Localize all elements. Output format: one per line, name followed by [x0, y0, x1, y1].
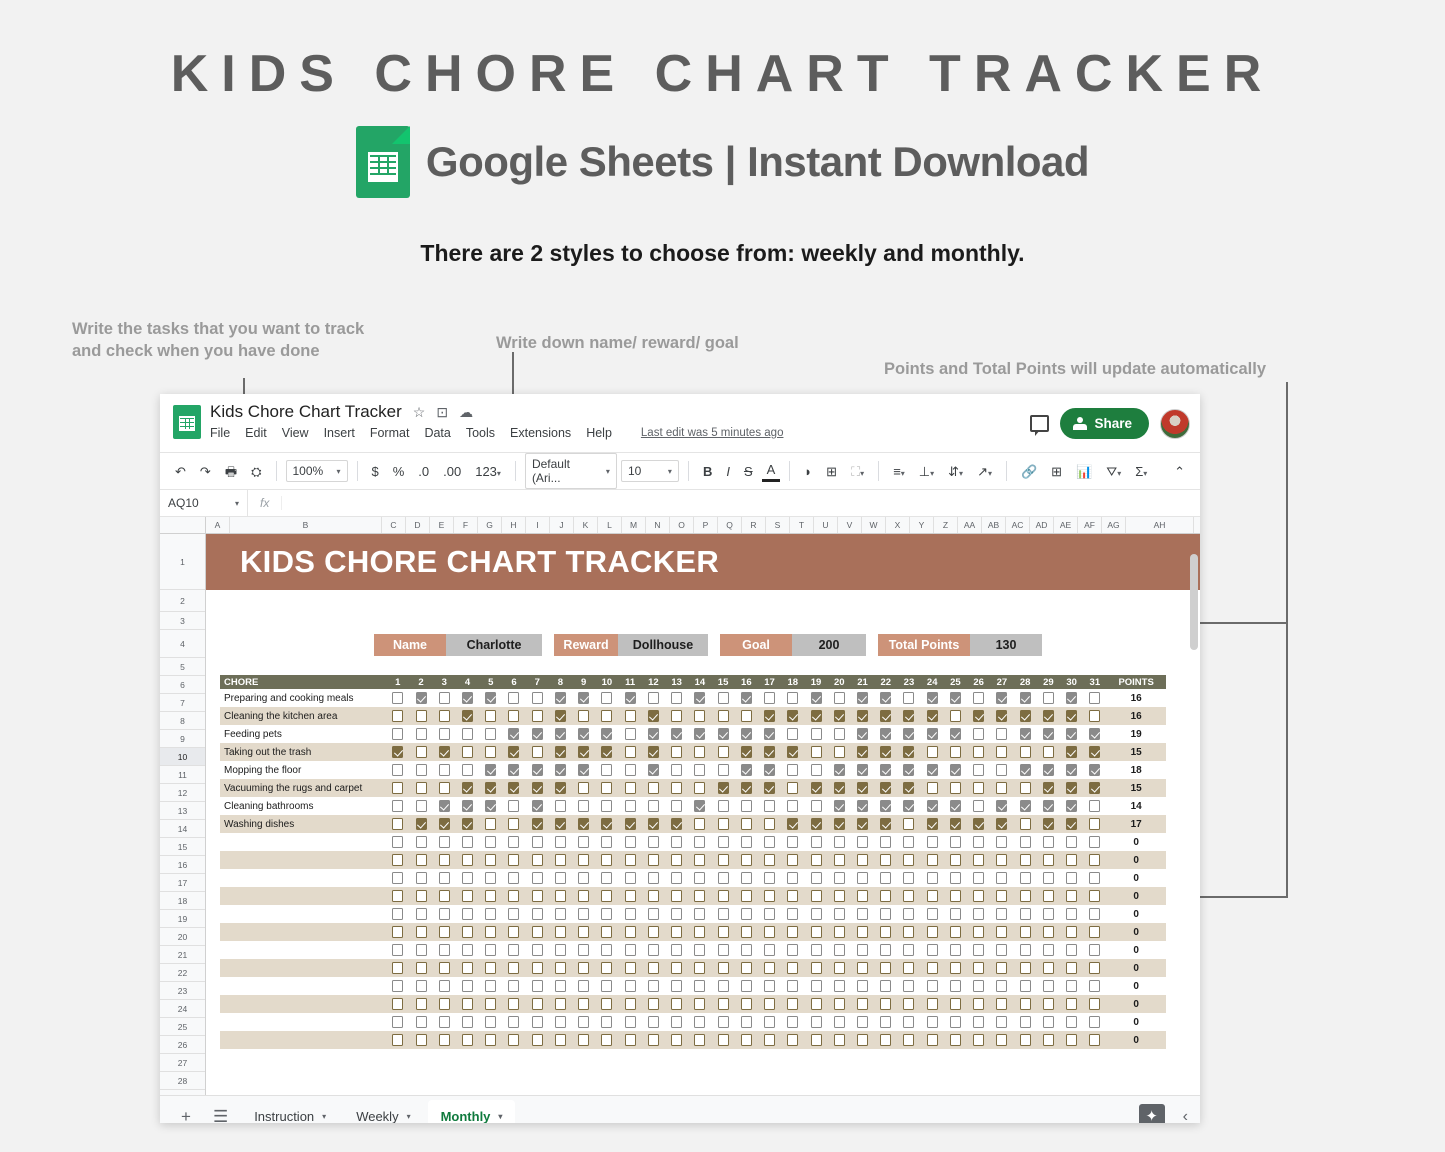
chore-checkbox[interactable]: [741, 1034, 752, 1046]
column-header-AC[interactable]: AC: [1006, 517, 1030, 533]
day-cell-22[interactable]: [874, 980, 897, 992]
day-cell-8[interactable]: [549, 944, 572, 956]
chore-checkbox[interactable]: [508, 1034, 519, 1046]
chore-checkbox[interactable]: [555, 944, 566, 956]
chore-checkbox[interactable]: [648, 710, 659, 722]
day-cell-14[interactable]: [688, 872, 711, 884]
chore-checkbox[interactable]: [508, 962, 519, 974]
day-cell-12[interactable]: [642, 692, 665, 704]
chore-checkbox[interactable]: [880, 854, 891, 866]
chore-checkbox[interactable]: [555, 998, 566, 1010]
chore-checkbox[interactable]: [718, 728, 729, 740]
chore-checkbox[interactable]: [508, 944, 519, 956]
day-cell-20[interactable]: [828, 764, 851, 776]
chore-checkbox[interactable]: [648, 962, 659, 974]
percent-format-button[interactable]: %: [388, 462, 410, 481]
day-cell-27[interactable]: [990, 890, 1013, 902]
day-cell-10[interactable]: [595, 1016, 618, 1028]
day-cell-14[interactable]: [688, 818, 711, 830]
chore-checkbox[interactable]: [787, 710, 798, 722]
chore-checkbox[interactable]: [485, 872, 496, 884]
add-sheet-icon[interactable]: +: [172, 1103, 200, 1124]
day-cell-26[interactable]: [967, 782, 990, 794]
day-cell-1[interactable]: [386, 890, 409, 902]
menu-extensions[interactable]: Extensions: [510, 426, 571, 440]
day-cell-2[interactable]: [409, 710, 432, 722]
day-cell-16[interactable]: [735, 980, 758, 992]
day-cell-28[interactable]: [1014, 962, 1037, 974]
chore-checkbox[interactable]: [764, 1016, 775, 1028]
day-cell-3[interactable]: [433, 872, 456, 884]
day-cell-9[interactable]: [572, 800, 595, 812]
chore-checkbox[interactable]: [927, 1016, 938, 1028]
avatar[interactable]: [1160, 409, 1190, 439]
chore-checkbox[interactable]: [741, 1016, 752, 1028]
chore-checkbox[interactable]: [927, 980, 938, 992]
chore-checkbox[interactable]: [648, 746, 659, 758]
chore-checkbox[interactable]: [880, 800, 891, 812]
day-cell-31[interactable]: [1083, 1016, 1106, 1028]
chore-checkbox[interactable]: [485, 782, 496, 794]
chore-checkbox[interactable]: [578, 980, 589, 992]
chevron-down-icon[interactable]: ▾: [322, 1112, 326, 1121]
chore-checkbox[interactable]: [485, 710, 496, 722]
day-cell-24[interactable]: [921, 926, 944, 938]
chore-checkbox[interactable]: [996, 710, 1007, 722]
chore-checkbox[interactable]: [741, 980, 752, 992]
day-cell-8[interactable]: [549, 962, 572, 974]
chore-checkbox[interactable]: [416, 980, 427, 992]
day-cell-8[interactable]: [549, 710, 572, 722]
day-cell-16[interactable]: [735, 854, 758, 866]
chore-checkbox[interactable]: [532, 1016, 543, 1028]
day-cell-22[interactable]: [874, 1016, 897, 1028]
day-cell-19[interactable]: [804, 854, 827, 866]
day-cell-4[interactable]: [456, 1034, 479, 1046]
chore-checkbox[interactable]: [973, 782, 984, 794]
day-cell-7[interactable]: [526, 908, 549, 920]
chore-checkbox[interactable]: [601, 926, 612, 938]
chore-checkbox[interactable]: [718, 710, 729, 722]
day-cell-29[interactable]: [1037, 872, 1060, 884]
day-cell-1[interactable]: [386, 998, 409, 1010]
day-cell-12[interactable]: [642, 746, 665, 758]
chore-checkbox[interactable]: [787, 1016, 798, 1028]
day-cell-6[interactable]: [502, 836, 525, 848]
chore-name-cell[interactable]: Cleaning the kitchen area: [220, 711, 386, 722]
chore-checkbox[interactable]: [903, 818, 914, 830]
day-cell-2[interactable]: [409, 692, 432, 704]
chore-checkbox[interactable]: [601, 692, 612, 704]
day-cell-27[interactable]: [990, 782, 1013, 794]
chore-checkbox[interactable]: [601, 746, 612, 758]
chore-checkbox[interactable]: [903, 962, 914, 974]
day-cell-25[interactable]: [944, 962, 967, 974]
day-cell-14[interactable]: [688, 998, 711, 1010]
day-cell-23[interactable]: [897, 746, 920, 758]
day-cell-23[interactable]: [897, 944, 920, 956]
chore-checkbox[interactable]: [857, 926, 868, 938]
day-cell-23[interactable]: [897, 926, 920, 938]
day-cell-4[interactable]: [456, 728, 479, 740]
day-cell-23[interactable]: [897, 1034, 920, 1046]
day-cell-7[interactable]: [526, 944, 549, 956]
chore-checkbox[interactable]: [416, 782, 427, 794]
day-cell-11[interactable]: [619, 980, 642, 992]
chore-checkbox[interactable]: [392, 872, 403, 884]
chore-checkbox[interactable]: [903, 710, 914, 722]
day-cell-18[interactable]: [781, 962, 804, 974]
chore-checkbox[interactable]: [416, 890, 427, 902]
chore-checkbox[interactable]: [578, 908, 589, 920]
day-cell-27[interactable]: [990, 908, 1013, 920]
day-cell-24[interactable]: [921, 692, 944, 704]
day-cell-19[interactable]: [804, 1034, 827, 1046]
day-cell-10[interactable]: [595, 854, 618, 866]
chore-checkbox[interactable]: [973, 890, 984, 902]
chore-checkbox[interactable]: [903, 980, 914, 992]
chore-checkbox[interactable]: [555, 926, 566, 938]
row-header-11[interactable]: 11: [160, 766, 205, 784]
chore-checkbox[interactable]: [903, 1034, 914, 1046]
day-cell-7[interactable]: [526, 818, 549, 830]
functions-icon[interactable]: Σ▾: [1130, 462, 1152, 481]
chore-checkbox[interactable]: [996, 836, 1007, 848]
chore-checkbox[interactable]: [392, 926, 403, 938]
chore-checkbox[interactable]: [694, 1034, 705, 1046]
day-cell-20[interactable]: [828, 692, 851, 704]
day-cell-27[interactable]: [990, 692, 1013, 704]
day-cell-21[interactable]: [851, 854, 874, 866]
chore-checkbox[interactable]: [787, 728, 798, 740]
day-cell-13[interactable]: [665, 764, 688, 776]
chore-checkbox[interactable]: [648, 872, 659, 884]
day-cell-9[interactable]: [572, 710, 595, 722]
day-cell-4[interactable]: [456, 746, 479, 758]
day-cell-20[interactable]: [828, 818, 851, 830]
day-cell-19[interactable]: [804, 782, 827, 794]
chore-checkbox[interactable]: [694, 890, 705, 902]
day-cell-24[interactable]: [921, 728, 944, 740]
chore-checkbox[interactable]: [578, 944, 589, 956]
chore-checkbox[interactable]: [787, 746, 798, 758]
select-all-corner[interactable]: [160, 517, 206, 533]
chore-checkbox[interactable]: [1043, 800, 1054, 812]
day-cell-6[interactable]: [502, 782, 525, 794]
chore-checkbox[interactable]: [392, 998, 403, 1010]
chore-checkbox[interactable]: [625, 800, 636, 812]
day-cell-1[interactable]: [386, 710, 409, 722]
day-cell-10[interactable]: [595, 1034, 618, 1046]
day-cell-15[interactable]: [711, 764, 734, 776]
chore-checkbox[interactable]: [718, 1016, 729, 1028]
chore-checkbox[interactable]: [973, 746, 984, 758]
day-cell-6[interactable]: [502, 800, 525, 812]
day-cell-24[interactable]: [921, 1016, 944, 1028]
day-cell-7[interactable]: [526, 746, 549, 758]
chore-checkbox[interactable]: [392, 710, 403, 722]
column-header-T[interactable]: T: [790, 517, 814, 533]
day-cell-5[interactable]: [479, 710, 502, 722]
chore-checkbox[interactable]: [880, 998, 891, 1010]
chore-checkbox[interactable]: [996, 980, 1007, 992]
chore-checkbox[interactable]: [741, 818, 752, 830]
chore-checkbox[interactable]: [996, 908, 1007, 920]
chore-checkbox[interactable]: [532, 962, 543, 974]
day-cell-26[interactable]: [967, 836, 990, 848]
chore-checkbox[interactable]: [625, 710, 636, 722]
day-cell-28[interactable]: [1014, 854, 1037, 866]
chore-checkbox[interactable]: [416, 746, 427, 758]
day-cell-23[interactable]: [897, 872, 920, 884]
chore-checkbox[interactable]: [508, 800, 519, 812]
chore-checkbox[interactable]: [532, 944, 543, 956]
chore-checkbox[interactable]: [1089, 908, 1100, 920]
chore-checkbox[interactable]: [1020, 890, 1031, 902]
chore-checkbox[interactable]: [694, 746, 705, 758]
day-cell-19[interactable]: [804, 980, 827, 992]
chore-checkbox[interactable]: [694, 764, 705, 776]
day-cell-10[interactable]: [595, 746, 618, 758]
chore-checkbox[interactable]: [508, 746, 519, 758]
day-cell-12[interactable]: [642, 872, 665, 884]
day-cell-9[interactable]: [572, 1016, 595, 1028]
day-cell-23[interactable]: [897, 890, 920, 902]
day-cell-17[interactable]: [758, 800, 781, 812]
day-cell-30[interactable]: [1060, 872, 1083, 884]
chore-checkbox[interactable]: [578, 836, 589, 848]
day-cell-5[interactable]: [479, 890, 502, 902]
chore-checkbox[interactable]: [927, 944, 938, 956]
day-cell-31[interactable]: [1083, 800, 1106, 812]
day-cell-11[interactable]: [619, 998, 642, 1010]
day-cell-23[interactable]: [897, 710, 920, 722]
day-cell-11[interactable]: [619, 746, 642, 758]
day-cell-14[interactable]: [688, 944, 711, 956]
day-cell-17[interactable]: [758, 818, 781, 830]
chore-checkbox[interactable]: [601, 962, 612, 974]
day-cell-25[interactable]: [944, 1016, 967, 1028]
chore-name-cell[interactable]: Mopping the floor: [220, 765, 386, 776]
chore-checkbox[interactable]: [671, 980, 682, 992]
chore-checkbox[interactable]: [578, 692, 589, 704]
chore-checkbox[interactable]: [625, 872, 636, 884]
day-cell-15[interactable]: [711, 728, 734, 740]
chore-checkbox[interactable]: [532, 746, 543, 758]
chore-checkbox[interactable]: [648, 944, 659, 956]
day-cell-26[interactable]: [967, 1016, 990, 1028]
day-cell-2[interactable]: [409, 800, 432, 812]
day-cell-1[interactable]: [386, 746, 409, 758]
chore-checkbox[interactable]: [718, 836, 729, 848]
chore-checkbox[interactable]: [741, 962, 752, 974]
day-cell-8[interactable]: [549, 818, 572, 830]
chore-checkbox[interactable]: [811, 944, 822, 956]
day-cell-23[interactable]: [897, 818, 920, 830]
day-cell-22[interactable]: [874, 728, 897, 740]
chore-checkbox[interactable]: [834, 746, 845, 758]
day-cell-26[interactable]: [967, 998, 990, 1010]
meta-value-3[interactable]: 130: [970, 634, 1042, 656]
day-cell-4[interactable]: [456, 800, 479, 812]
row-header-20[interactable]: 20: [160, 928, 205, 946]
day-cell-29[interactable]: [1037, 836, 1060, 848]
row-header-23[interactable]: 23: [160, 982, 205, 1000]
day-cell-1[interactable]: [386, 962, 409, 974]
day-cell-21[interactable]: [851, 980, 874, 992]
chore-checkbox[interactable]: [648, 800, 659, 812]
chore-checkbox[interactable]: [601, 908, 612, 920]
day-cell-16[interactable]: [735, 836, 758, 848]
column-header-I[interactable]: I: [526, 517, 550, 533]
day-cell-26[interactable]: [967, 980, 990, 992]
day-cell-28[interactable]: [1014, 890, 1037, 902]
chore-checkbox[interactable]: [462, 926, 473, 938]
day-cell-21[interactable]: [851, 746, 874, 758]
chore-checkbox[interactable]: [880, 1034, 891, 1046]
row-header-26[interactable]: 26: [160, 1036, 205, 1054]
day-cell-19[interactable]: [804, 926, 827, 938]
chore-checkbox[interactable]: [718, 944, 729, 956]
chore-checkbox[interactable]: [764, 980, 775, 992]
day-cell-5[interactable]: [479, 980, 502, 992]
chore-checkbox[interactable]: [532, 854, 543, 866]
column-header-U[interactable]: U: [814, 517, 838, 533]
chore-checkbox[interactable]: [648, 998, 659, 1010]
day-cell-6[interactable]: [502, 926, 525, 938]
day-cell-5[interactable]: [479, 782, 502, 794]
chore-checkbox[interactable]: [648, 1034, 659, 1046]
day-cell-18[interactable]: [781, 998, 804, 1010]
day-cell-2[interactable]: [409, 1034, 432, 1046]
day-cell-5[interactable]: [479, 836, 502, 848]
column-header-AE[interactable]: AE: [1054, 517, 1078, 533]
undo-icon[interactable]: ↶: [170, 462, 191, 481]
chore-checkbox[interactable]: [741, 782, 752, 794]
day-cell-1[interactable]: [386, 818, 409, 830]
day-cell-25[interactable]: [944, 926, 967, 938]
day-cell-20[interactable]: [828, 800, 851, 812]
day-cell-25[interactable]: [944, 908, 967, 920]
chore-checkbox[interactable]: [1020, 998, 1031, 1010]
day-cell-4[interactable]: [456, 962, 479, 974]
chore-checkbox[interactable]: [880, 836, 891, 848]
chore-checkbox[interactable]: [532, 800, 543, 812]
chore-checkbox[interactable]: [648, 728, 659, 740]
chore-checkbox[interactable]: [625, 854, 636, 866]
chore-checkbox[interactable]: [1066, 908, 1077, 920]
column-header-H[interactable]: H: [502, 517, 526, 533]
day-cell-5[interactable]: [479, 692, 502, 704]
chore-checkbox[interactable]: [718, 746, 729, 758]
day-cell-14[interactable]: [688, 782, 711, 794]
chore-checkbox[interactable]: [532, 836, 543, 848]
day-cell-22[interactable]: [874, 890, 897, 902]
day-cell-16[interactable]: [735, 800, 758, 812]
chore-checkbox[interactable]: [741, 746, 752, 758]
chore-checkbox[interactable]: [625, 764, 636, 776]
day-cell-26[interactable]: [967, 800, 990, 812]
day-cell-1[interactable]: [386, 1034, 409, 1046]
day-cell-31[interactable]: [1083, 728, 1106, 740]
chore-checkbox[interactable]: [927, 692, 938, 704]
chore-checkbox[interactable]: [1066, 818, 1077, 830]
day-cell-7[interactable]: [526, 782, 549, 794]
day-cell-12[interactable]: [642, 728, 665, 740]
day-cell-10[interactable]: [595, 890, 618, 902]
row-header-18[interactable]: 18: [160, 892, 205, 910]
chore-checkbox[interactable]: [485, 962, 496, 974]
day-cell-4[interactable]: [456, 818, 479, 830]
day-cell-15[interactable]: [711, 962, 734, 974]
day-cell-17[interactable]: [758, 872, 781, 884]
day-cell-14[interactable]: [688, 728, 711, 740]
chore-checkbox[interactable]: [764, 872, 775, 884]
chore-checkbox[interactable]: [532, 728, 543, 740]
day-cell-9[interactable]: [572, 890, 595, 902]
chore-checkbox[interactable]: [439, 764, 450, 776]
day-cell-14[interactable]: [688, 854, 711, 866]
chore-checkbox[interactable]: [741, 944, 752, 956]
day-cell-25[interactable]: [944, 980, 967, 992]
day-cell-1[interactable]: [386, 836, 409, 848]
menu-tools[interactable]: Tools: [466, 426, 495, 440]
explore-icon[interactable]: [1139, 1104, 1165, 1124]
chore-checkbox[interactable]: [1089, 854, 1100, 866]
chore-checkbox[interactable]: [555, 908, 566, 920]
chore-checkbox[interactable]: [555, 980, 566, 992]
day-cell-16[interactable]: [735, 746, 758, 758]
chore-checkbox[interactable]: [601, 800, 612, 812]
chore-checkbox[interactable]: [741, 872, 752, 884]
chore-checkbox[interactable]: [1089, 692, 1100, 704]
day-cell-7[interactable]: [526, 692, 549, 704]
chore-checkbox[interactable]: [416, 1034, 427, 1046]
chore-checkbox[interactable]: [1066, 1016, 1077, 1028]
day-cell-7[interactable]: [526, 854, 549, 866]
chore-checkbox[interactable]: [718, 890, 729, 902]
chore-checkbox[interactable]: [392, 818, 403, 830]
chore-checkbox[interactable]: [1020, 692, 1031, 704]
chore-checkbox[interactable]: [1089, 836, 1100, 848]
comment-icon[interactable]: [1030, 415, 1049, 432]
chore-name-cell[interactable]: Vacuuming the rugs and carpet: [220, 783, 386, 794]
chore-checkbox[interactable]: [764, 710, 775, 722]
day-cell-23[interactable]: [897, 908, 920, 920]
chore-checkbox[interactable]: [1089, 728, 1100, 740]
column-header-X[interactable]: X: [886, 517, 910, 533]
menu-insert[interactable]: Insert: [324, 426, 355, 440]
day-cell-24[interactable]: [921, 836, 944, 848]
chore-checkbox[interactable]: [578, 818, 589, 830]
column-header-AB[interactable]: AB: [982, 517, 1006, 533]
chore-checkbox[interactable]: [996, 800, 1007, 812]
day-cell-11[interactable]: [619, 944, 642, 956]
column-header-R[interactable]: R: [742, 517, 766, 533]
chore-checkbox[interactable]: [625, 746, 636, 758]
day-cell-18[interactable]: [781, 746, 804, 758]
day-cell-14[interactable]: [688, 800, 711, 812]
day-cell-3[interactable]: [433, 1034, 456, 1046]
day-cell-30[interactable]: [1060, 998, 1083, 1010]
chore-checkbox[interactable]: [973, 926, 984, 938]
column-header-AD[interactable]: AD: [1030, 517, 1054, 533]
chore-checkbox[interactable]: [392, 692, 403, 704]
day-cell-17[interactable]: [758, 782, 781, 794]
day-cell-21[interactable]: [851, 926, 874, 938]
chore-checkbox[interactable]: [718, 980, 729, 992]
chore-checkbox[interactable]: [1089, 890, 1100, 902]
